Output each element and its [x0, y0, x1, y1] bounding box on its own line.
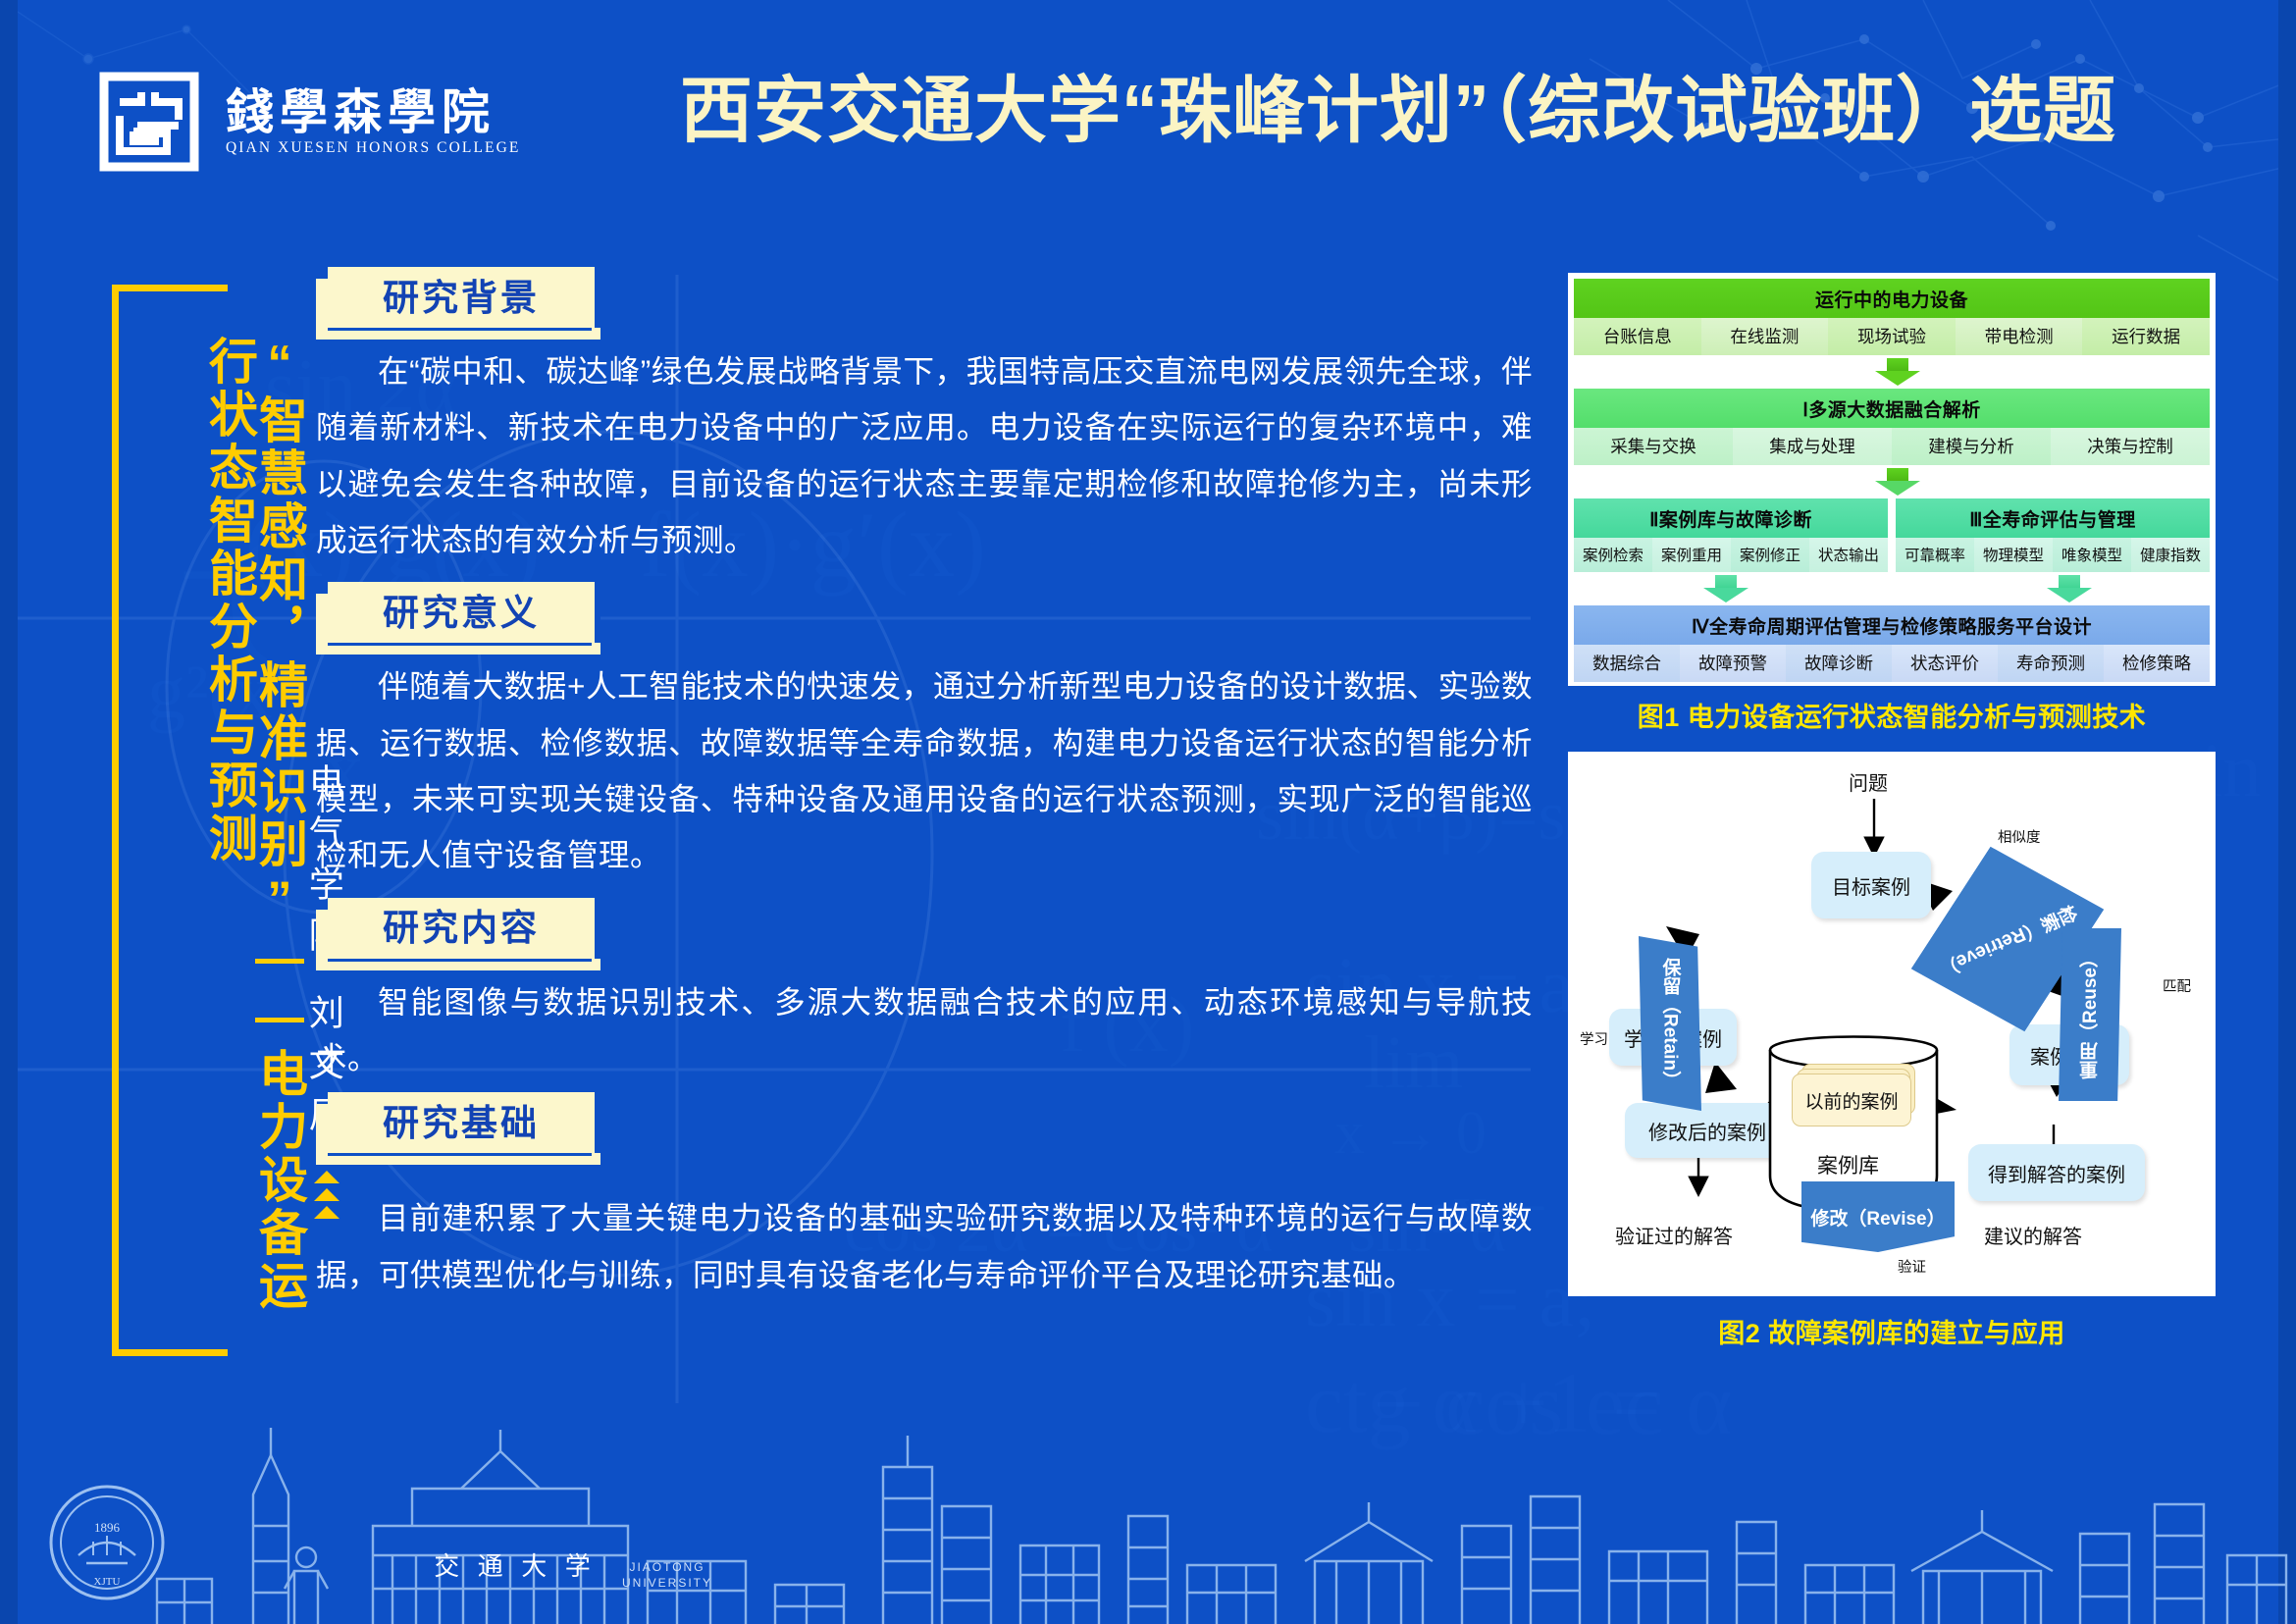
section-research-background: 研究背景 在“碳中和、碳达峰”绿色发展战略背景下，我国特高压交直流电网发展领先全… — [316, 267, 1533, 568]
topic-title-vertical: “智慧感知，精准识别”——电力设备运行状态智能分析与预测 — [204, 336, 304, 1336]
node-problem: 问题 — [1849, 767, 1888, 796]
level-3-item: 状态输出 — [1809, 538, 1888, 572]
section-heading-label: 研究背景 — [383, 280, 540, 316]
svg-text:JIAOTONG: JIAOTONG — [629, 1560, 704, 1574]
college-logo: 錢學森學院 QIAN XUESEN HONORS COLLEGE — [98, 71, 520, 173]
level-3-item: 物理模型 — [1974, 538, 2053, 572]
level-4-items: 数据综合 故障预警 故障诊断 状态评价 寿命预测 检修策略 — [1574, 645, 2210, 682]
figures-column: 运行中的电力设备 台账信息 在线监测 现场试验 带电检测 运行数据 Ⅰ多源大数据… — [1568, 273, 2216, 1368]
node-suggested-answer: 建议的解答 — [1984, 1221, 2082, 1249]
ribbon-retrieve-label: 检索（Retrieve） — [1935, 897, 2081, 981]
campus-skyline-icon: 交 通 大 学 JIAOTONG UNIVERSITY — [0, 1379, 2296, 1624]
university-seal-icon: 1896 XJTU — [47, 1483, 167, 1602]
level-3-item: 健康指数 — [2131, 538, 2210, 572]
figure-2-diagram: 问题 目标案例 案例检索 得到解答的案例 修改后的案例 学习的案例 建议的解答 … — [1568, 752, 2216, 1296]
ribbon-reuse: 重用（Reuse） — [2059, 928, 2121, 1101]
down-arrow-icon — [1574, 355, 2210, 389]
vertical-title-block: “智慧感知，精准识别”——电力设备运行状态智能分析与预测 电气学院 刘文凤 — [96, 273, 302, 1372]
section-research-foundation: 研究基础 目前建积累了大量关键电力设备的基础实验研究数据以及特种环境的运行与故障… — [316, 1092, 1533, 1303]
level-2-title: Ⅰ多源大数据融合解析 — [1574, 389, 2210, 428]
level-3-item: 案例检索 — [1574, 538, 1652, 572]
ribbon-retain: 保留（Retain） — [1639, 936, 1701, 1111]
level-2-item: 采集与交换 — [1574, 428, 1733, 465]
level-3-item: 案例重用 — [1652, 538, 1731, 572]
level-1-item: 带电检测 — [1956, 318, 2083, 355]
section-body: 目前建积累了大量关键电力设备的基础实验研究数据以及特种环境的运行与故障数据，可供… — [316, 1190, 1533, 1303]
level-2-item: 建模与分析 — [1892, 428, 2051, 465]
node-target-case: 目标案例 — [1811, 852, 1931, 918]
svg-text:XJTU: XJTU — [94, 1576, 121, 1588]
edge-label-match: 匹配 — [2163, 975, 2191, 996]
level-1-items: 台账信息 在线监测 现场试验 带电检测 运行数据 — [1574, 318, 2210, 355]
poster-header: 錢學森學院 QIAN XUESEN HONORS COLLEGE 西安交通大学“… — [0, 0, 2296, 211]
level-1-item: 在线监测 — [1701, 318, 1829, 355]
node-case-base-label: 案例库 — [1817, 1150, 1879, 1179]
down-arrow-icon-pair — [1574, 572, 2210, 605]
edge-label-verify: 验证 — [1898, 1256, 1926, 1277]
section-body: 伴随着大数据+人工智能技术的快速发，通过分析新型电力设备的设计数据、实验数据、运… — [316, 658, 1533, 883]
level-4-item: 故障预警 — [1680, 645, 1786, 682]
level-2-items: 采集与交换 集成与处理 建模与分析 决策与控制 — [1574, 428, 2210, 465]
svg-text:UNIVERSITY: UNIVERSITY — [622, 1576, 712, 1590]
section-heading: 研究背景 — [328, 267, 600, 328]
level-3-right: Ⅲ全寿命评估与管理 可靠概率 物理模型 唯象模型 健康指数 — [1896, 498, 2210, 572]
level-1-title: 运行中的电力设备 — [1574, 279, 2210, 318]
page-title: 西安交通大学“珠峰计划”（综改试验班）选题 — [589, 73, 2208, 149]
section-heading: 研究内容 — [328, 898, 600, 959]
poster-canvas: (x)·g(x) − f(x)·g′(x) g²(x) sin(α+β)=sin… — [0, 0, 2296, 1624]
level-1-item: 现场试验 — [1828, 318, 1956, 355]
logo-name-cn: 錢學森學院 — [226, 88, 520, 136]
section-heading: 研究意义 — [328, 582, 600, 643]
level-4-item: 状态评价 — [1892, 645, 1998, 682]
logo-text-block: 錢學森學院 QIAN XUESEN HONORS COLLEGE — [226, 88, 520, 156]
level-3-item: 案例修正 — [1731, 538, 1809, 572]
figure-2-caption: 图2 故障案例库的建立与应用 — [1568, 1312, 2216, 1350]
edge-label-similarity: 相似度 — [1998, 826, 2041, 847]
svg-text:1896: 1896 — [94, 1520, 121, 1535]
section-heading-label: 研究基础 — [383, 1105, 540, 1141]
svg-text:交 通 大 学: 交 通 大 学 — [434, 1552, 597, 1581]
level-1-item: 台账信息 — [1574, 318, 1701, 355]
edge-label-learn: 学习 — [1580, 1028, 1608, 1049]
node-verified-answer: 验证过的解答 — [1615, 1221, 1733, 1249]
level-3-item: 可靠概率 — [1896, 538, 1974, 572]
level-4-item: 检修策略 — [2104, 645, 2210, 682]
level-3-left-items: 案例检索 案例重用 案例修正 状态输出 — [1574, 538, 1888, 572]
section-heading-label: 研究内容 — [383, 910, 540, 946]
level-3-item: 唯象模型 — [2053, 538, 2131, 572]
ribbon-revise-label: 修改（Revise） — [1810, 1204, 1945, 1231]
down-arrow-icon — [1574, 465, 2210, 498]
content-column: 研究背景 在“碳中和、碳达峰”绿色发展战略背景下，我国特高压交直流电网发展领先全… — [316, 267, 1533, 1303]
node-previous-case-label: 以前的案例 — [1804, 1087, 1898, 1114]
section-heading: 研究基础 — [328, 1092, 600, 1153]
level-4-item: 故障诊断 — [1786, 645, 1892, 682]
level-3-right-items: 可靠概率 物理模型 唯象模型 健康指数 — [1896, 538, 2210, 572]
node-solved-case: 得到解答的案例 — [1968, 1144, 2145, 1201]
figure-1-caption: 图1 电力设备运行状态智能分析与预测技术 — [1568, 696, 2216, 734]
level-4-item: 寿命预测 — [1998, 645, 2104, 682]
section-body: 在“碳中和、碳达峰”绿色发展战略背景下，我国特高压交直流电网发展领先全球，伴随着… — [316, 343, 1533, 568]
level-2-item: 决策与控制 — [2051, 428, 2210, 465]
section-heading-label: 研究意义 — [383, 595, 540, 631]
level-3-left: Ⅱ案例库与故障诊断 案例检索 案例重用 案例修正 状态输出 — [1574, 498, 1888, 572]
ribbon-reuse-label: 重用（Reuse） — [2077, 949, 2104, 1079]
level-4-title: Ⅳ全寿命周期评估管理与检修策略服务平台设计 — [1574, 605, 2210, 645]
section-body: 智能图像与数据识别技术、多源大数据融合技术的应用、动态环境感知与导航技术。 — [316, 974, 1533, 1087]
level-3-pair: Ⅱ案例库与故障诊断 案例检索 案例重用 案例修正 状态输出 Ⅲ全寿命评估与管理 … — [1574, 498, 2210, 572]
section-research-significance: 研究意义 伴随着大数据+人工智能技术的快速发，通过分析新型电力设备的设计数据、实… — [316, 582, 1533, 883]
seal-square-logo-icon — [98, 71, 200, 173]
level-2-item: 集成与处理 — [1733, 428, 1892, 465]
logo-name-en: QIAN XUESEN HONORS COLLEGE — [226, 140, 520, 156]
level-1-item: 运行数据 — [2082, 318, 2210, 355]
level-4-item: 数据综合 — [1574, 645, 1680, 682]
level-3-right-title: Ⅲ全寿命评估与管理 — [1896, 498, 2210, 538]
section-research-content: 研究内容 智能图像与数据识别技术、多源大数据融合技术的应用、动态环境感知与导航技… — [316, 898, 1533, 1087]
ribbon-retain-label: 保留（Retain） — [1657, 958, 1684, 1089]
level-3-left-title: Ⅱ案例库与故障诊断 — [1574, 498, 1888, 538]
figure-1-diagram: 运行中的电力设备 台账信息 在线监测 现场试验 带电检测 运行数据 Ⅰ多源大数据… — [1568, 273, 2216, 686]
